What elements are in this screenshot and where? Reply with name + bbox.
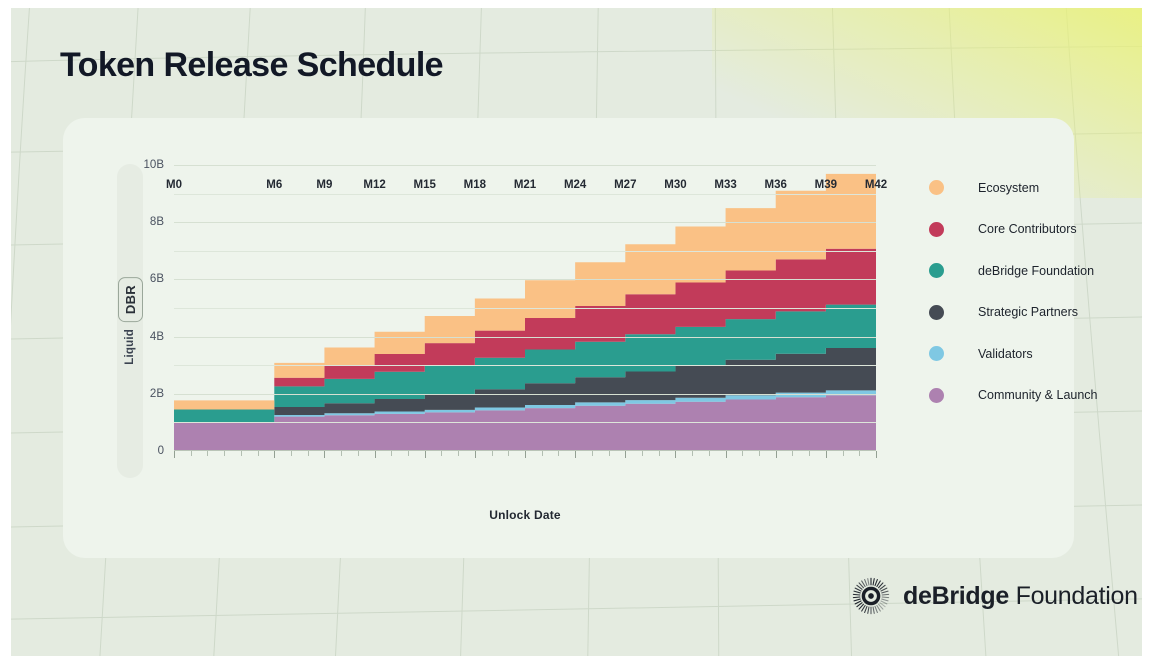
x-axis-tick-label: M15 [414, 179, 436, 191]
x-axis-tick-minor [792, 451, 793, 456]
x-axis-tick-major [675, 451, 676, 458]
legend-item[interactable]: deBridge Foundation [929, 263, 1098, 278]
x-axis-tick-minor [508, 451, 509, 456]
x-axis-tick-minor [258, 451, 259, 456]
legend-label: Community & Launch [978, 388, 1098, 402]
x-axis-tick-minor [709, 451, 710, 456]
x-axis-tick-major [726, 451, 727, 458]
x-axis-tick-label: M9 [316, 179, 332, 191]
x-axis-tick-major [876, 451, 877, 458]
x-axis-tick-major [425, 451, 426, 458]
x-axis-tick-minor [191, 451, 192, 456]
x-axis-tick-label: M39 [815, 179, 837, 191]
x-axis-tick-minor [358, 451, 359, 456]
brand-wordmark: deBridge Foundation [903, 582, 1138, 611]
chart-card: DBR Liquid 02B4B6B8B10BM0M6M9M12M15M18M2… [63, 118, 1074, 558]
x-axis-tick-major [274, 451, 275, 458]
x-axis-tick-minor [659, 451, 660, 456]
x-axis-tick-minor [408, 451, 409, 456]
x-axis-tick-minor [692, 451, 693, 456]
legend-label: Ecosystem [978, 181, 1039, 195]
x-axis-tick-label: M30 [664, 179, 686, 191]
x-axis-tick-major [575, 451, 576, 458]
x-axis-tick-major [525, 451, 526, 458]
legend-swatch-icon [929, 346, 944, 361]
legend-label: Core Contributors [978, 222, 1077, 236]
x-axis-tick-major [826, 451, 827, 458]
y-axis-unit-badge: DBR [118, 277, 143, 322]
y-axis-tick-label: 8B [150, 216, 164, 228]
x-axis-tick-minor [592, 451, 593, 456]
chart-container: DBR Liquid 02B4B6B8B10BM0M6M9M12M15M18M2… [63, 118, 1074, 558]
y-axis-tick-label: 10B [144, 159, 164, 171]
legend-item[interactable]: Community & Launch [929, 388, 1098, 403]
legend-item[interactable]: Ecosystem [929, 180, 1098, 195]
x-axis-tick-minor [859, 451, 860, 456]
x-axis-tick-minor [341, 451, 342, 456]
legend-label: Validators [978, 347, 1033, 361]
y-axis-tick-label: 0 [158, 445, 164, 457]
x-axis-tick-minor [308, 451, 309, 456]
y-axis-label-pill: DBR Liquid [117, 164, 143, 478]
x-axis-title: Unlock Date [174, 508, 876, 522]
brand-name-bold: deBridge [903, 582, 1009, 610]
x-axis-tick-minor [742, 451, 743, 456]
legend-label: Strategic Partners [978, 305, 1078, 319]
gridline-minor [174, 422, 876, 423]
y-axis-tick-label: 2B [150, 388, 164, 400]
x-axis-tick-label: M6 [266, 179, 282, 191]
brand-name-light: Foundation [1009, 582, 1138, 610]
x-axis-tick-minor [759, 451, 760, 456]
gridline-major [174, 394, 876, 395]
gridline-major [174, 222, 876, 223]
x-axis-tick-minor [391, 451, 392, 456]
x-axis-tick-minor [291, 451, 292, 456]
x-axis-tick-label: M18 [464, 179, 486, 191]
legend-swatch-icon [929, 263, 944, 278]
x-axis-tick-major [174, 451, 175, 458]
x-axis-tick-minor [441, 451, 442, 456]
x-axis-tick-major [625, 451, 626, 458]
slide-root: Token Release Schedule DBR Liquid 02B4B6… [0, 0, 1153, 664]
x-axis-tick-label: M42 [865, 179, 887, 191]
y-axis-label-text: Liquid [124, 329, 136, 365]
x-axis-tick-label: M27 [614, 179, 636, 191]
chart-legend: EcosystemCore ContributorsdeBridge Found… [929, 180, 1098, 403]
x-axis-tick-minor [492, 451, 493, 456]
x-axis-tick-major [375, 451, 376, 458]
legend-swatch-icon [929, 305, 944, 320]
x-axis-tick-minor [558, 451, 559, 456]
gridline-major [174, 165, 876, 166]
gridline-major [174, 337, 876, 338]
debridge-sunburst-icon [852, 577, 890, 615]
legend-item[interactable]: Strategic Partners [929, 305, 1098, 320]
legend-item[interactable]: Core Contributors [929, 222, 1098, 237]
x-axis-tick-minor [241, 451, 242, 456]
x-axis-tick-minor [843, 451, 844, 456]
legend-swatch-icon [929, 388, 944, 403]
x-axis-tick-label: M0 [166, 179, 182, 191]
legend-swatch-icon [929, 222, 944, 237]
x-axis-tick-major [324, 451, 325, 458]
x-axis-tick-label: M36 [765, 179, 787, 191]
x-axis-tick-label: M21 [514, 179, 536, 191]
gridline-minor [174, 194, 876, 195]
x-axis-tick-minor [458, 451, 459, 456]
x-axis-tick-major [776, 451, 777, 458]
footer-brand: deBridge Foundation [852, 577, 1138, 615]
gridline-minor [174, 308, 876, 309]
page-title: Token Release Schedule [60, 46, 443, 85]
y-axis-tick-label: 6B [150, 273, 164, 285]
x-axis-tick-minor [642, 451, 643, 456]
y-axis-tick-label: 4B [150, 331, 164, 343]
x-axis-tick-minor [809, 451, 810, 456]
gridline-minor [174, 365, 876, 366]
legend-item[interactable]: Validators [929, 346, 1098, 361]
x-axis-tick-major [475, 451, 476, 458]
x-axis-tick-label: M24 [564, 179, 586, 191]
legend-label: deBridge Foundation [978, 264, 1094, 278]
x-axis-tick-minor [207, 451, 208, 456]
x-axis-tick-label: M33 [714, 179, 736, 191]
legend-swatch-icon [929, 180, 944, 195]
gridline-minor [174, 251, 876, 252]
x-axis-tick-minor [542, 451, 543, 456]
plot-area: 02B4B6B8B10BM0M6M9M12M15M18M21M24M27M30M… [174, 165, 876, 451]
x-axis-tick-minor [609, 451, 610, 456]
gridline-major [174, 279, 876, 280]
x-axis-tick-minor [224, 451, 225, 456]
x-axis-tick-label: M12 [363, 179, 385, 191]
